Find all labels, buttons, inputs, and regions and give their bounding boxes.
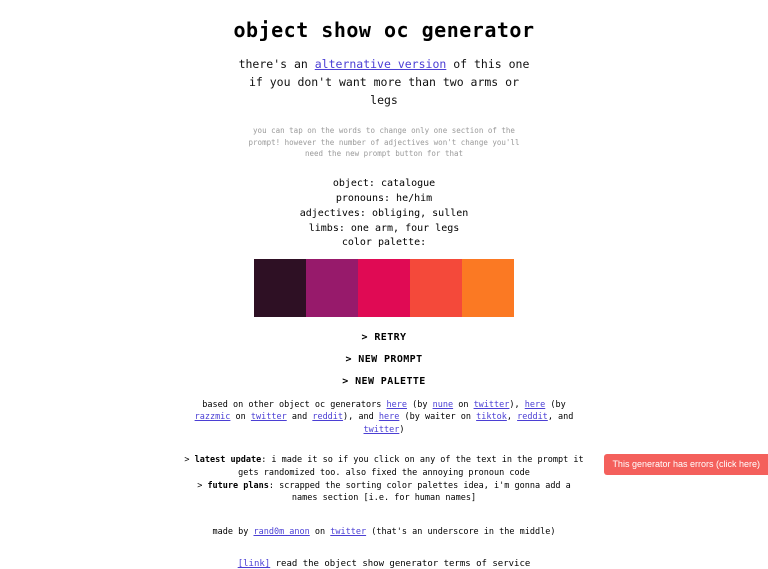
future-plans-line: > future plans: scrapped the sorting col…: [184, 480, 584, 506]
palette-swatch-1[interactable]: [254, 259, 306, 317]
new-prompt-button[interactable]: > NEW PROMPT: [0, 355, 768, 365]
credits-nune-link[interactable]: nune: [433, 400, 453, 410]
credits-by-2: (by: [545, 400, 565, 410]
subtitle: there's an alternative version of this o…: [234, 56, 534, 109]
credits-and-3: , and: [548, 412, 574, 422]
palette-swatch-4[interactable]: [410, 259, 462, 317]
pronouns-label: pronouns:: [336, 193, 396, 204]
credits-and-2: and: [287, 412, 313, 422]
credits-intro: based on other object oc generators: [202, 400, 386, 410]
alternative-version-link[interactable]: alternative version: [315, 57, 447, 71]
credits-twitter-2-link[interactable]: twitter: [251, 412, 287, 422]
credits-razzmic-link[interactable]: razzmic: [195, 412, 231, 422]
credits-by-1: (by: [407, 400, 433, 410]
adjectives-label: adjectives:: [300, 208, 372, 219]
terms-of-service-link[interactable]: [link]: [238, 559, 271, 569]
made-by-suffix: (that's an underscore in the middle): [366, 527, 555, 537]
credits-reddit-3-link[interactable]: reddit: [517, 412, 548, 422]
latest-update-label: latest update: [195, 455, 262, 465]
error-badge[interactable]: This generator has errors (click here): [604, 454, 768, 475]
author-twitter-link[interactable]: twitter: [330, 527, 366, 537]
credits-tiktok-link[interactable]: tiktok: [476, 412, 507, 422]
credits-on-1: on: [453, 400, 473, 410]
latest-update-marker: >: [184, 455, 194, 465]
hint-text: you can tap on the words to change only …: [219, 125, 549, 159]
adjectives-value[interactable]: obliging, sullen: [372, 208, 468, 219]
made-by-mid: on: [310, 527, 330, 537]
credits-by-3: (by waiter on: [399, 412, 476, 422]
action-buttons: > RETRY > NEW PROMPT > NEW PALETTE: [0, 333, 768, 387]
terms-of-service-text: read the object show generator terms of …: [270, 559, 530, 569]
prompt-line-object: object: catalogue: [0, 177, 768, 192]
object-value[interactable]: catalogue: [381, 178, 435, 189]
subtitle-text-before: there's an: [239, 57, 315, 71]
latest-update-text: : i made it so if you click on any of th…: [238, 455, 583, 478]
credits-on-2: on: [230, 412, 250, 422]
page-container: object show oc generator there's an alte…: [0, 0, 768, 569]
credits-text: based on other object oc generators here…: [194, 399, 574, 436]
pronouns-value[interactable]: he/him: [396, 193, 432, 204]
credits-here-2-link[interactable]: here: [525, 400, 545, 410]
credits-close-3: ): [399, 425, 404, 435]
page-title: object show oc generator: [0, 18, 768, 42]
credits-twitter-3-link[interactable]: twitter: [364, 425, 400, 435]
palette-swatch-3[interactable]: [358, 259, 410, 317]
future-plans-marker: >: [197, 481, 207, 491]
credits-reddit-2-link[interactable]: reddit: [312, 412, 343, 422]
palette-swatch-2[interactable]: [306, 259, 358, 317]
future-plans-text: : scrapped the sorting color palettes id…: [269, 481, 571, 504]
hint-line-1: you can tap on the words to change only …: [219, 125, 549, 136]
prompt-line-limbs: limbs: one arm, four legs: [0, 222, 768, 237]
made-by-line: made by rand0m anon on twitter (that's a…: [0, 527, 768, 537]
color-palette[interactable]: [254, 259, 514, 317]
prompt-line-adjectives: adjectives: obliging, sullen: [0, 207, 768, 222]
credits-twitter-1-link[interactable]: twitter: [474, 400, 510, 410]
new-palette-button[interactable]: > NEW PALETTE: [0, 377, 768, 387]
credits-comma-3: ,: [507, 412, 517, 422]
limbs-value[interactable]: one arm, four legs: [351, 223, 459, 234]
credits-close-1: ),: [509, 400, 524, 410]
prompt-line-palette-label: color palette:: [0, 236, 768, 251]
credits-here-3-link[interactable]: here: [379, 412, 399, 422]
terms-of-service-line: [link] read the object show generator te…: [0, 559, 768, 569]
object-label: object:: [333, 178, 381, 189]
prompt-block: object: catalogue pronouns: he/him adjec…: [0, 177, 768, 251]
author-link[interactable]: rand0m anon: [253, 527, 309, 537]
prompt-line-pronouns: pronouns: he/him: [0, 192, 768, 207]
hint-line-3: need the new prompt button for that: [219, 148, 549, 159]
latest-update-line: > latest update: i made it so if you cli…: [184, 454, 584, 480]
retry-button[interactable]: > RETRY: [0, 333, 768, 343]
hint-line-2: prompt! however the number of adjectives…: [219, 137, 549, 148]
made-by-prefix: made by: [213, 527, 254, 537]
credits-close-2: ), and: [343, 412, 379, 422]
future-plans-label: future plans: [207, 481, 268, 491]
limbs-label: limbs:: [309, 223, 351, 234]
palette-swatch-5[interactable]: [462, 259, 514, 317]
credits-here-1-link[interactable]: here: [387, 400, 407, 410]
